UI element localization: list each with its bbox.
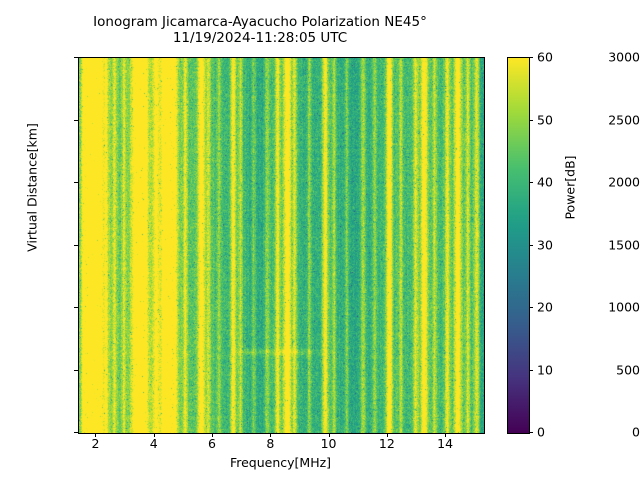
ionogram-figure: Ionogram Jicamarca-Ayacucho Polarization… (0, 0, 640, 480)
y-tick-mark (74, 182, 78, 183)
colorbar-tick-mark (529, 57, 533, 58)
chart-title: Ionogram Jicamarca-Ayacucho Polarization… (0, 14, 520, 46)
x-axis-label: Frequency[MHz] (78, 455, 483, 470)
colorbar-label: Power[dB] (563, 38, 578, 338)
y-tick-mark (74, 307, 78, 308)
colorbar-tick-mark (529, 245, 533, 246)
x-tick-label: 4 (150, 436, 158, 451)
x-tick-label: 14 (437, 436, 453, 451)
heatmap-plot-area (78, 57, 485, 434)
colorbar-tick-label: 10 (537, 362, 553, 377)
x-tick-mark (270, 433, 271, 437)
x-tick-label: 12 (379, 436, 395, 451)
x-tick-mark (445, 433, 446, 437)
colorbar-tick-label: 0 (537, 425, 545, 440)
y-tick-label: 2000 (608, 175, 640, 190)
x-tick-mark (387, 433, 388, 437)
y-tick-mark (74, 370, 78, 371)
colorbar-tick-label: 40 (537, 175, 553, 190)
colorbar-tick-mark (529, 182, 533, 183)
title-line-1: Ionogram Jicamarca-Ayacucho Polarization… (0, 14, 520, 30)
y-tick-mark (74, 245, 78, 246)
y-tick-mark (74, 57, 78, 58)
colorbar-tick-label: 30 (537, 237, 553, 252)
x-tick-mark (212, 433, 213, 437)
colorbar-tick-mark (529, 370, 533, 371)
title-line-2: 11/19/2024-11:28:05 UTC (0, 30, 520, 46)
ionogram-heatmap (79, 58, 484, 433)
y-axis-label: Virtual Distance[km] (25, 38, 40, 338)
colorbar-tick-label: 60 (537, 50, 553, 65)
y-tick-label: 3000 (608, 50, 640, 65)
y-tick-label: 1000 (608, 300, 640, 315)
x-tick-mark (95, 433, 96, 437)
y-tick-label: 2500 (608, 112, 640, 127)
colorbar-gradient-frame (507, 57, 530, 434)
colorbar-tick-label: 20 (537, 300, 553, 315)
x-tick-label: 6 (208, 436, 216, 451)
y-tick-mark (74, 432, 78, 433)
colorbar-tick-mark (529, 307, 533, 308)
y-tick-label: 500 (616, 362, 640, 377)
y-tick-label: 1500 (608, 237, 640, 252)
y-tick-label: 0 (632, 425, 640, 440)
colorbar-gradient (508, 58, 529, 433)
colorbar-tick-label: 50 (537, 112, 553, 127)
colorbar-tick-mark (529, 432, 533, 433)
y-tick-mark (74, 120, 78, 121)
x-tick-mark (329, 433, 330, 437)
x-tick-label: 8 (266, 436, 274, 451)
x-tick-mark (154, 433, 155, 437)
x-tick-label: 2 (91, 436, 99, 451)
x-tick-label: 10 (321, 436, 337, 451)
colorbar-tick-mark (529, 120, 533, 121)
